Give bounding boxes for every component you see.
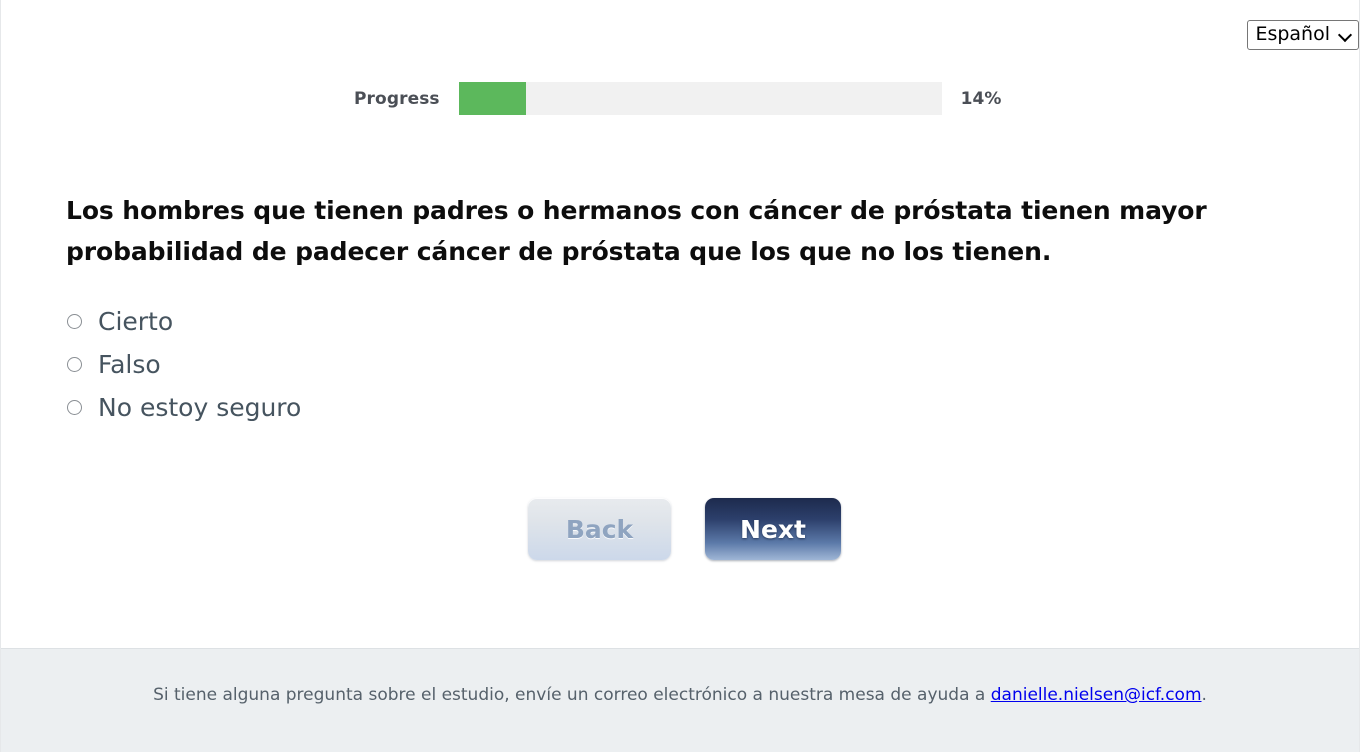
back-button[interactable]: Back bbox=[528, 498, 671, 560]
radio-button-icon[interactable] bbox=[67, 314, 82, 329]
chevron-down-icon bbox=[1339, 28, 1352, 41]
option-label: No estoy seguro bbox=[98, 395, 301, 420]
help-desk-email-link[interactable]: danielle.nielsen@icf.com bbox=[991, 685, 1202, 705]
option-no-estoy-seguro[interactable]: No estoy seguro bbox=[67, 386, 301, 429]
answer-options: Cierto Falso No estoy seguro bbox=[67, 300, 301, 429]
progress-percent: 14% bbox=[961, 89, 1002, 109]
language-select-value: Español bbox=[1255, 25, 1330, 44]
language-select[interactable]: Español bbox=[1247, 20, 1359, 50]
language-selector-wrapper: Español bbox=[1247, 20, 1359, 50]
page-footer: Si tiene alguna pregunta sobre el estudi… bbox=[1, 648, 1359, 752]
progress-label: Progress bbox=[354, 89, 440, 109]
navigation-buttons: Back Next bbox=[528, 498, 841, 560]
survey-page: Español Progress 14% Los hombres que tie… bbox=[0, 0, 1360, 752]
footer-text-after: . bbox=[1202, 685, 1207, 705]
option-label: Cierto bbox=[98, 309, 173, 334]
option-falso[interactable]: Falso bbox=[67, 343, 301, 386]
radio-button-icon[interactable] bbox=[67, 357, 82, 372]
progress-section: Progress 14% bbox=[354, 82, 1001, 115]
radio-button-icon[interactable] bbox=[67, 400, 82, 415]
progress-bar-fill bbox=[459, 82, 527, 115]
progress-bar-track bbox=[459, 82, 942, 115]
option-label: Falso bbox=[98, 352, 161, 377]
next-button[interactable]: Next bbox=[705, 498, 841, 560]
footer-text-before: Si tiene alguna pregunta sobre el estudi… bbox=[153, 685, 991, 705]
footer-help-text: Si tiene alguna pregunta sobre el estudi… bbox=[1, 682, 1359, 710]
option-cierto[interactable]: Cierto bbox=[67, 300, 301, 343]
question-text: Los hombres que tienen padres o hermanos… bbox=[66, 190, 1296, 272]
